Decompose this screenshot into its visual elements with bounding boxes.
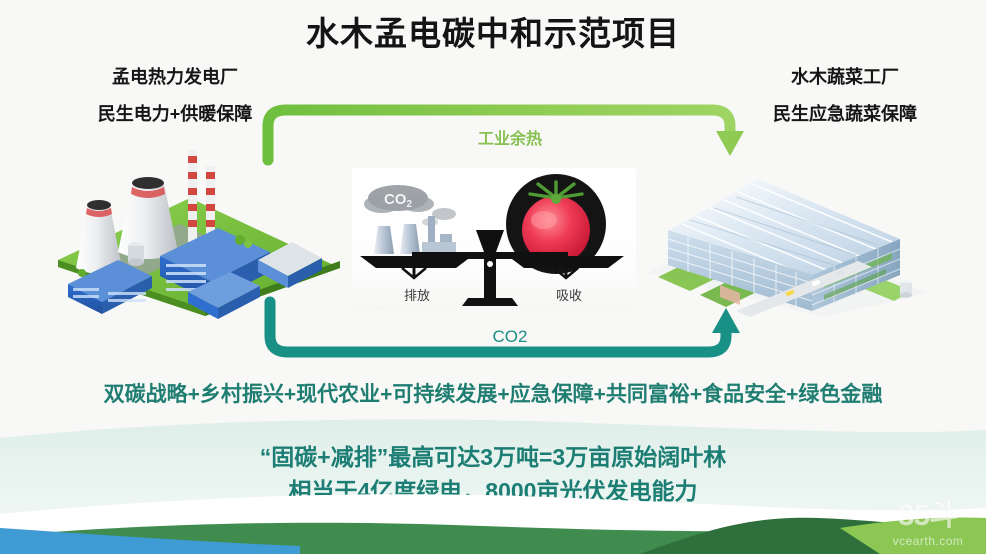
right-facility-subtitle: 民生应急蔬菜保障 bbox=[712, 101, 978, 129]
left-facility-subtitle: 民生电力+供暖保障 bbox=[42, 101, 308, 129]
power-plant-illustration bbox=[40, 140, 350, 320]
benefits-tagline: 双碳战略+乡村振兴+现代农业+可持续发展+应急保障+共同富裕+食品安全+绿色金融 bbox=[0, 378, 986, 408]
right-facility-caption: 水木蔬菜工厂 民生应急蔬菜保障 bbox=[712, 64, 978, 129]
summary-line-1: “固碳+减排”最高可达3万吨=3万亩原始阔叶林 bbox=[0, 440, 986, 474]
left-facility-caption: 孟电热力发电厂 民生电力+供暖保障 bbox=[42, 64, 308, 129]
right-facility-name: 水木蔬菜工厂 bbox=[712, 64, 978, 92]
factory-smokestacks-icon bbox=[374, 216, 456, 254]
slide-canvas: 水木孟电碳中和示范项目 孟电热力发电厂 民生电力+供暖保障 水木蔬菜工厂 民生应… bbox=[0, 0, 986, 554]
absorption-label: 吸收 bbox=[556, 285, 582, 304]
emission-label: 排放 bbox=[404, 285, 430, 304]
carbon-balance-card: CO2 bbox=[352, 168, 636, 310]
heat-flow-label: 工业余热 bbox=[430, 125, 590, 149]
left-facility-name: 孟电热力发电厂 bbox=[42, 64, 308, 92]
page-title: 水木孟电碳中和示范项目 bbox=[0, 14, 986, 54]
greenhouse-factory-illustration bbox=[636, 145, 936, 320]
carbon-flow-label: CO2 bbox=[430, 327, 590, 347]
decorative-hills-footer bbox=[0, 484, 986, 554]
balance-scale-illustration: CO2 bbox=[352, 168, 636, 310]
co2-cloud-icon: CO2 bbox=[364, 185, 456, 226]
